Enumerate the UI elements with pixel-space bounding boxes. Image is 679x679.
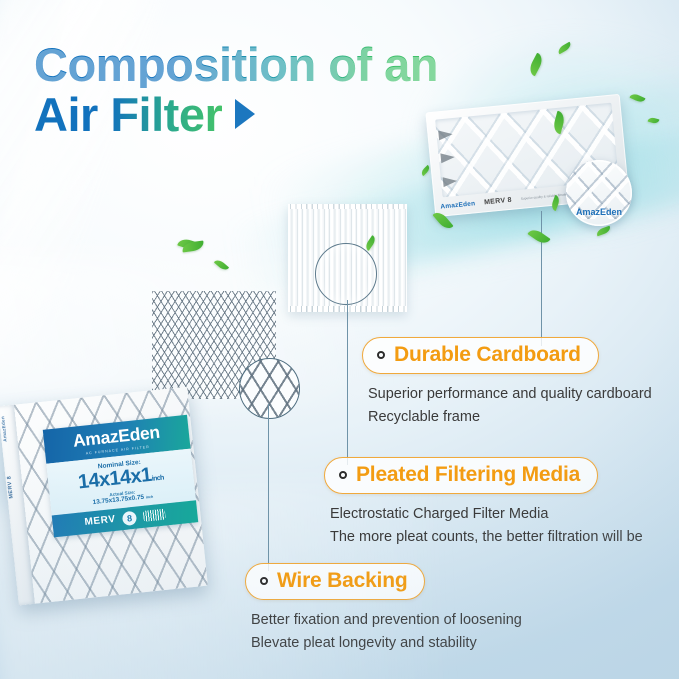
arrow-clip-icon bbox=[438, 129, 453, 140]
connector-line-cardboard bbox=[541, 211, 542, 346]
connector-line-pleated bbox=[347, 300, 348, 465]
triangle-right-icon bbox=[235, 99, 255, 129]
leaf-icon bbox=[648, 117, 660, 125]
leaf-icon bbox=[527, 227, 550, 247]
leaf-icon bbox=[595, 226, 611, 237]
callout-label: Wire Backing bbox=[277, 569, 407, 593]
callout-label: Durable Cardboard bbox=[394, 343, 581, 367]
infographic-poster: Composition of an Air Filter AmazEden ME… bbox=[0, 0, 679, 679]
pleat-top-edge bbox=[288, 204, 407, 209]
description-line: Recyclable frame bbox=[368, 406, 652, 429]
description-line: The more pleat counts, the better filtra… bbox=[330, 526, 643, 549]
product-label: AmazEden AC FURNACE AIR FILTER Nominal S… bbox=[43, 415, 198, 537]
leaf-icon bbox=[420, 165, 431, 176]
callout-label: Pleated Filtering Media bbox=[356, 463, 580, 487]
title-line-1: Composition of an bbox=[34, 42, 438, 88]
description-line: Superior performance and quality cardboa… bbox=[368, 383, 652, 406]
description-line: Electrostatic Charged Filter Media bbox=[330, 503, 643, 526]
callout-wire-backing: Wire Backing Better fixation and prevent… bbox=[245, 563, 522, 656]
callout-durable-cardboard: Durable Cardboard Superior performance a… bbox=[362, 337, 652, 430]
merv-label: MERV bbox=[84, 514, 116, 528]
actual-size-unit: inch bbox=[146, 494, 154, 499]
callout-pill-pleated-filtering-media[interactable]: Pleated Filtering Media bbox=[324, 457, 598, 494]
leaf-icon bbox=[527, 53, 545, 77]
filter-magnifier-inset: AmazEden bbox=[566, 160, 632, 226]
filter-fine-print: Superior quality & reliable filtration bbox=[521, 192, 570, 201]
callout-description: Better fixation and prevention of loosen… bbox=[251, 609, 522, 656]
nominal-size-unit: inch bbox=[151, 474, 164, 482]
callout-description: Electrostatic Charged Filter Media The m… bbox=[330, 503, 643, 550]
title-line-2: Air Filter bbox=[34, 92, 222, 138]
leaf-icon bbox=[557, 42, 573, 55]
callout-pill-durable-cardboard[interactable]: Durable Cardboard bbox=[362, 337, 599, 374]
pleat-lines-icon bbox=[143, 509, 166, 522]
wire-backing-magnifier-inset bbox=[239, 358, 300, 419]
circle-bullet-icon bbox=[377, 351, 385, 359]
product-box-illustration: AmazEden MERV 8 AmazEden AC FURNACE AIR … bbox=[0, 387, 208, 606]
spine-brand: AmazEden bbox=[0, 415, 17, 442]
filter-brand: AmazEden bbox=[440, 200, 475, 210]
arrow-clip-icon bbox=[443, 176, 458, 187]
circle-bullet-icon bbox=[260, 577, 268, 585]
spine-merv: MERV 8 bbox=[6, 475, 22, 499]
description-line: Better fixation and prevention of loosen… bbox=[251, 609, 522, 632]
connector-line-wire bbox=[268, 404, 269, 571]
filter-merv: MERV 8 bbox=[484, 197, 512, 207]
pleat-magnifier-ring bbox=[315, 243, 377, 305]
circle-bullet-icon bbox=[339, 471, 347, 479]
callout-description: Superior performance and quality cardboa… bbox=[368, 383, 652, 430]
leaf-icon bbox=[214, 258, 229, 272]
callout-pill-wire-backing[interactable]: Wire Backing bbox=[245, 563, 425, 600]
description-line: Blevate pleat longevity and stability bbox=[251, 632, 522, 655]
magnifier-brand-label: AmazEden bbox=[566, 207, 632, 217]
callout-pleated-filtering-media: Pleated Filtering Media Electrostatic Ch… bbox=[324, 457, 643, 550]
arrow-clip-icon bbox=[440, 152, 455, 163]
merv-rating-badge: 8 bbox=[122, 510, 137, 525]
page-title: Composition of an Air Filter bbox=[34, 42, 438, 137]
leaf-icon bbox=[629, 92, 645, 104]
